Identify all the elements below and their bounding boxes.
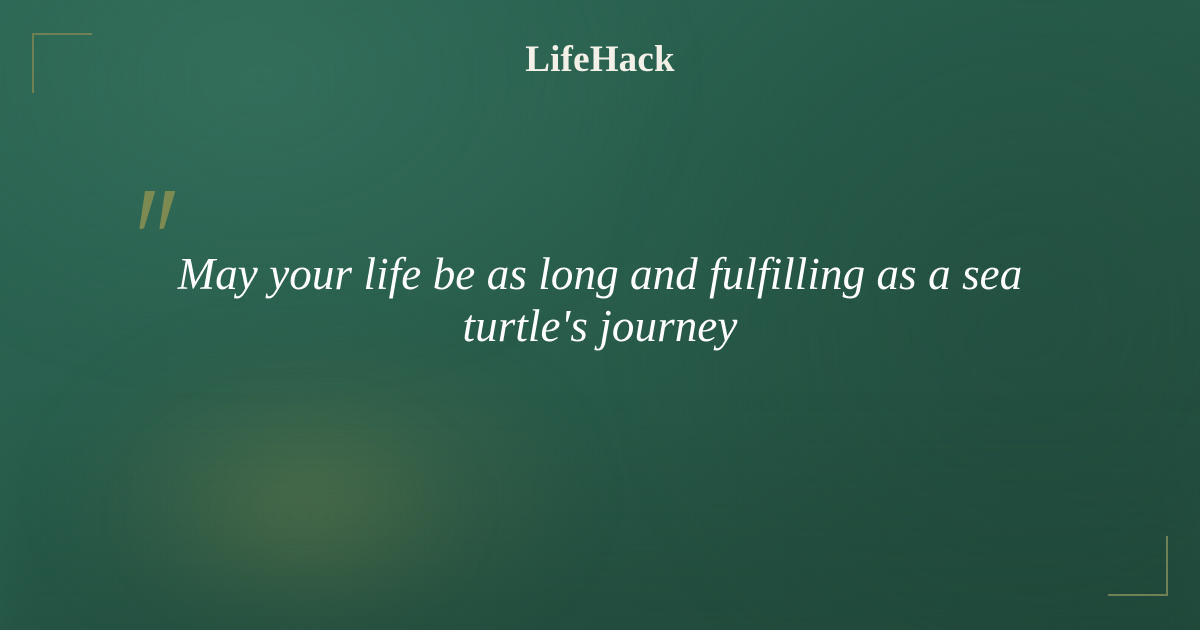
quotation-mark-icon [138,185,184,235]
quotation-mark-stroke-left [136,191,156,229]
corner-bracket-bottom-right-icon [1108,536,1168,596]
quotation-mark-stroke-right [156,191,176,229]
quote-card: LifeHack May your life be as long and fu… [0,0,1200,630]
quote-block: May your life be as long and fulfilling … [120,185,1080,352]
brand-logo-text: LifeHack [525,38,675,81]
brand-header: LifeHack [0,38,1200,81]
quote-text: May your life be as long and fulfilling … [120,185,1080,352]
